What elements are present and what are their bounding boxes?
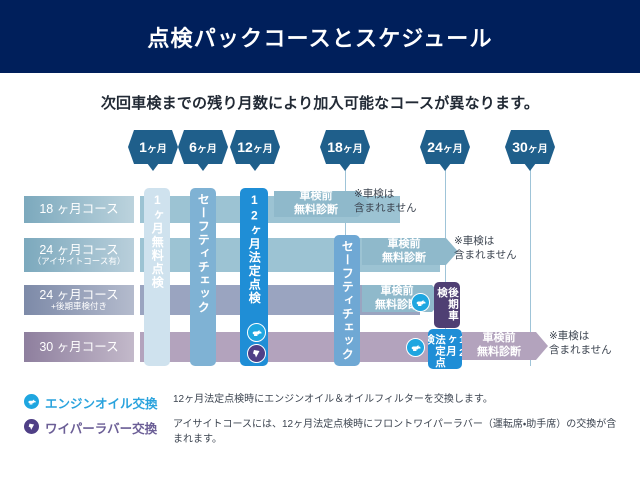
- oil-icon: [24, 394, 39, 409]
- page-title: 点検パックコースとスケジュール: [147, 21, 492, 53]
- box-12m-legal-2-col-1: 法定点検: [428, 334, 445, 369]
- legend-wiper-rubber-description: アイサイトコースには、12ヶ月法定点検時にフロントワイパーラバー（運転席・助手席…: [173, 418, 624, 447]
- marker-6m-pointer: [197, 163, 209, 171]
- arrow-pre-inspection-4: 車検前 無料診断: [462, 332, 548, 360]
- marker-30m-unit: ヶ月: [528, 140, 548, 155]
- oil-icon-row1: [247, 323, 266, 342]
- course-30m-band: [140, 332, 440, 362]
- box-12m-legal-2-col-0: 12ヶ月: [445, 334, 462, 369]
- marker-30m-hex: 30ヶ月: [505, 130, 555, 164]
- box-12m-legal-2: 12ヶ月法定点検: [428, 329, 462, 369]
- course-24m-late-label-main: 24 ヶ月コース: [39, 288, 118, 302]
- marker-30m-pointer: [524, 163, 536, 171]
- legend-wiper-rubber-title: ワイパーラバー交換: [45, 418, 173, 437]
- box-late-inspection: 後期車検: [434, 282, 460, 328]
- course-24m-eyesight-label-main: 24 ヶ月コース: [39, 243, 118, 257]
- box-safety-check-1: セーフティチェック: [190, 188, 216, 366]
- course-24m-late-label[interactable]: 24 ヶ月コース+後期車検付き: [24, 285, 134, 315]
- marker-6m-hex: 6ヶ月: [178, 130, 228, 164]
- subtitle-text: 次回車検までの残り月数により加入可能なコースが異なります。: [0, 92, 640, 113]
- course-24m-eyesight-label[interactable]: 24 ヶ月コース（アイサイトコース有）: [24, 238, 134, 272]
- legend-engine-oil: エンジンオイル交換12ヶ月法定点検時にエンジンオイル＆オイルフィルターを交換しま…: [24, 393, 624, 412]
- arrow-pre-inspection-2: 車検前 無料診断: [362, 238, 458, 265]
- course-24m-late-label-sub: +後期車検付き: [51, 302, 107, 312]
- wiper-icon: [24, 419, 39, 434]
- marker-12m-pointer: [249, 163, 261, 171]
- marker-1m-pointer: [147, 163, 159, 171]
- marker-24m: 24ヶ月: [420, 130, 470, 170]
- marker-6m-number: 6: [189, 139, 197, 155]
- box-12m-legal-1-col-0: 12ヶ月法定点検: [248, 193, 261, 305]
- box-late-inspection-col-0: 後期車検: [436, 287, 458, 328]
- marker-6m: 6ヶ月: [178, 130, 228, 170]
- marker-18m-hex: 18ヶ月: [320, 130, 370, 164]
- marker-18m-number: 18: [327, 139, 343, 155]
- course-30m-label-main: 30 ヶ月コース: [39, 340, 118, 354]
- legend-engine-oil-title: エンジンオイル交換: [45, 393, 173, 412]
- legend-wiper-rubber: ワイパーラバー交換アイサイトコースには、12ヶ月法定点検時にフロントワイパーラバ…: [24, 418, 624, 447]
- marker-12m-number: 12: [237, 139, 253, 155]
- course-18m-label-main: 18 ヶ月コース: [39, 202, 118, 216]
- legend: エンジンオイル交換12ヶ月法定点検時にエンジンオイル＆オイルフィルターを交換しま…: [24, 393, 624, 453]
- marker-12m-unit: ヶ月: [253, 140, 273, 155]
- oil-icon-row4: [406, 338, 425, 357]
- marker-24m-hex: 24ヶ月: [420, 130, 470, 164]
- oil-icon-row3: [411, 293, 430, 312]
- marker-12m: 12ヶ月: [230, 130, 280, 170]
- box-safety-check-2-col-0: セーフティチェック: [341, 240, 354, 362]
- marker-24m-pointer: [439, 163, 451, 171]
- marker-6m-unit: ヶ月: [197, 140, 217, 155]
- marker-1m: 1ヶ月: [128, 130, 178, 170]
- note-24m: ※車検は 含まれません: [454, 235, 517, 262]
- box-safety-check-1-col-0: セーフティチェック: [197, 193, 210, 315]
- marker-30m-number: 30: [512, 139, 528, 155]
- course-24m-eyesight-label-sub: （アイサイトコース有）: [33, 257, 126, 267]
- wiper-icon-row1: [247, 344, 266, 363]
- marker-1m-number: 1: [139, 139, 147, 155]
- arrow-pre-inspection-3: 車検前 無料診断: [362, 285, 444, 312]
- course-30m-label[interactable]: 30 ヶ月コース: [24, 332, 134, 362]
- note-30m: ※車検は 含まれません: [549, 330, 612, 357]
- schedule-chart: 1ヶ月6ヶ月12ヶ月18ヶ月24ヶ月30ヶ月18 ヶ月コース24 ヶ月コース（ア…: [0, 130, 640, 380]
- marker-24m-unit: ヶ月: [443, 140, 463, 155]
- marker-18m-unit: ヶ月: [343, 140, 363, 155]
- box-1m-free-inspection: 1ヶ月無料点検: [144, 188, 170, 366]
- marker-24m-number: 24: [427, 139, 443, 155]
- marker-12m-hex: 12ヶ月: [230, 130, 280, 164]
- marker-30m: 30ヶ月: [505, 130, 555, 170]
- marker-1m-hex: 1ヶ月: [128, 130, 178, 164]
- box-safety-check-2: セーフティチェック: [334, 235, 360, 366]
- page-header: 点検パックコースとスケジュール: [0, 0, 640, 73]
- note-18m: ※車検は 含まれません: [354, 188, 417, 215]
- infographic-page: 点検パックコースとスケジュール 次回車検までの残り月数により加入可能なコースが異…: [0, 0, 640, 480]
- marker-18m: 18ヶ月: [320, 130, 370, 170]
- legend-engine-oil-description: 12ヶ月法定点検時にエンジンオイル＆オイルフィルターを交換します。: [173, 393, 624, 408]
- course-18m-label[interactable]: 18 ヶ月コース: [24, 196, 134, 223]
- marker-18m-pointer: [339, 163, 351, 171]
- box-1m-free-inspection-col-0: 1ヶ月無料点検: [151, 193, 164, 290]
- marker-1m-unit: ヶ月: [147, 140, 167, 155]
